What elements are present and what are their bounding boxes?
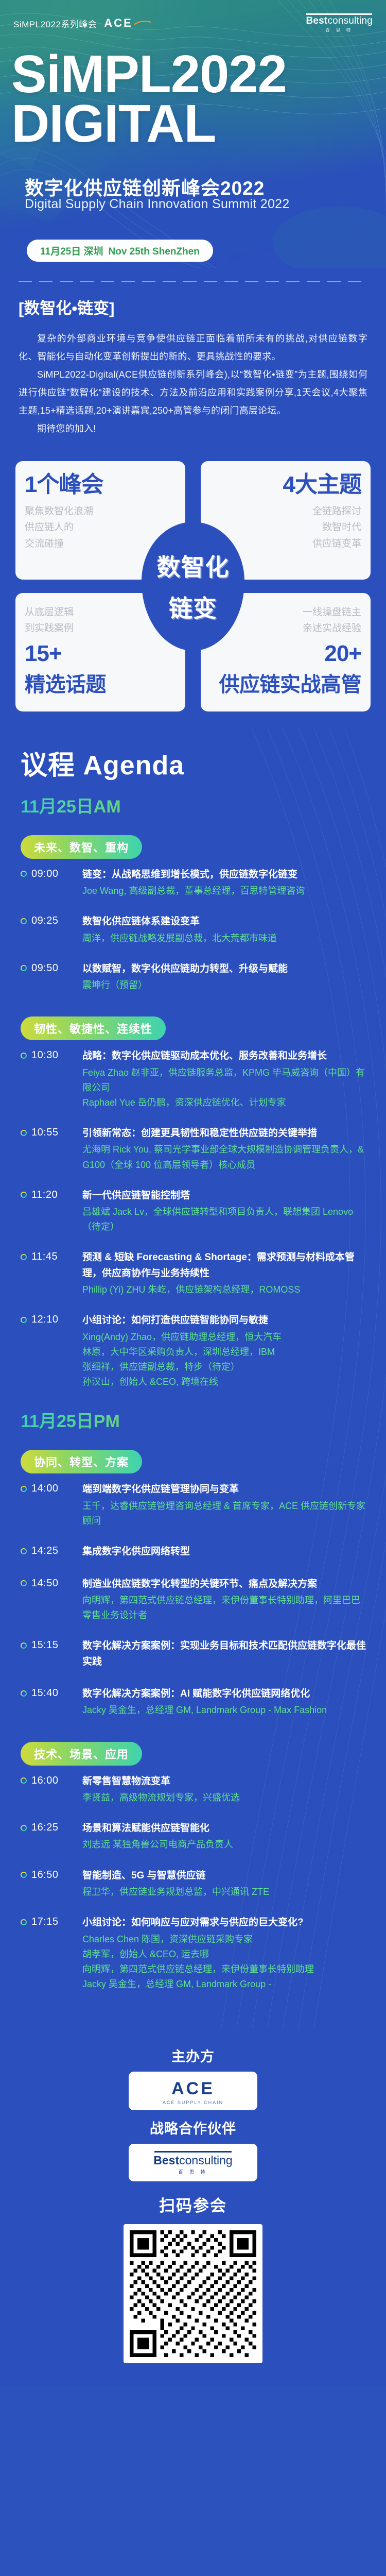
session-time: 15:15 (21, 1638, 82, 1651)
session-title: 小组讨论：如何响应与应对需求与供应的巨大变化? (82, 1915, 369, 1930)
bullet-ring-icon (21, 918, 27, 924)
session-title: 数字化解决方案案例：实现业务目标和技术匹配供应链数字化最佳实践 (82, 1638, 369, 1670)
sponsor-logo-cn: 百 思 特 (306, 27, 373, 33)
session-title: 端到端数字化供应链管理协同与变革 (82, 1482, 369, 1497)
session-title: 小组讨论：如何打造供应链智能协同与敏捷 (82, 1313, 369, 1328)
session-time: 17:15 (21, 1915, 82, 1928)
session-speaker: 李贤益，高级物流规划专家，兴盛优选 (82, 1790, 369, 1805)
agenda-day-am: 11月25日AM 未来、数智、重构 09:00 链变：从战略思维到增长模式，供应… (17, 792, 369, 1390)
highlight-cards-section: 1个峰会 聚焦数智化浪潮 供应链人的 交流碰撞 4大主题 全链路探讨 数智时代 … (0, 449, 386, 729)
bullet-ring-icon (21, 1486, 27, 1492)
card-subtext: 从底层逻辑 到实践案例 (25, 604, 74, 637)
card-headline: 20+ (324, 641, 361, 666)
card-subtext: 全链路探讨 数智时代 供应链变革 (312, 503, 361, 552)
ace-logo-text: ACE (104, 16, 132, 30)
event-date-badge: 11月25日 深圳Nov 25th ShenZhen (27, 240, 213, 262)
track-pill: 协同、转型、方案 (21, 1450, 142, 1473)
session-time-text: 11:20 (31, 1189, 58, 1201)
agenda-session: 15:15 数字化解决方案案例：实现业务目标和技术匹配供应链数字化最佳实践 (21, 1638, 369, 1671)
agenda-session: 10:55 引领新常态：创建更具韧性和稳定性供应链的关键举措 尤海明 Rick … (21, 1126, 369, 1173)
agenda-session: 16:50 智能制造、5G 与智慧供应链 程卫华，供应链业务规划总监，中兴通讯 … (21, 1868, 369, 1900)
bullet-ring-icon (21, 1053, 27, 1059)
agenda-session: 11:20 新一代供应链智能控制塔 吕雄斌 Jack Lv，全球供应链转型和项目… (21, 1188, 369, 1235)
session-speaker: 向明辉，第四范式供应链总经理，来伊份董事长特别助理，阿里巴巴零售业务设计者 (82, 1593, 369, 1623)
session-time: 09:00 (21, 867, 82, 880)
card-headline: 4大主题 (283, 472, 361, 497)
session-time-text: 10:55 (31, 1127, 59, 1139)
card-headline: 15+ (25, 641, 62, 666)
track-pill: 韧性、敏捷性、连续性 (21, 1016, 166, 1040)
session-time: 14:25 (21, 1544, 82, 1557)
session-time-text: 14:50 (31, 1578, 59, 1589)
agenda-day-label: 11月25日PM (21, 1407, 369, 1432)
session-time: 09:50 (21, 961, 82, 974)
hero-topbar: SiMPL2022系列峰会 ACE Bestconsulting 百 思 特 (0, 11, 386, 35)
session-speaker: Joe Wang, 高级副总裁，董事总经理，百思特管理咨询 (82, 884, 369, 899)
session-time: 16:25 (21, 1821, 82, 1834)
session-speaker: Jacky 吴金生，总经理 GM, Landmark Group - Max F… (82, 1703, 369, 1718)
agenda-session: 09:00 链变：从战略思维到增长模式，供应链数字化链变 Joe Wang, 高… (21, 867, 369, 899)
session-time: 09:25 (21, 914, 82, 927)
agenda-session: 15:40 数字化解决方案案例：AI 赋能数字化供应链网络优化 Jacky 吴金… (21, 1686, 369, 1718)
highlight-cards-grid: 1个峰会 聚焦数智化浪潮 供应链人的 交流碰撞 4大主题 全链路探讨 数智时代 … (15, 461, 371, 711)
session-time-text: 14:25 (31, 1545, 59, 1557)
bullet-ring-icon (21, 1919, 27, 1925)
session-time-text: 09:50 (31, 962, 59, 974)
hero-subtitle-cn: 数字化供应链创新峰会2022 (25, 173, 265, 200)
sponsor-logo-text: Bestconsulting (306, 15, 373, 27)
ace-logo-icon: ACE (104, 16, 151, 30)
agenda-track: 韧性、敏捷性、连续性 10:30 战略：数字化供应链驱动成本优化、服务改善和业务… (17, 1008, 369, 1389)
series-brand: SiMPL2022系列峰会 ACE (13, 16, 151, 30)
agenda-day-label: 11月25日AM (21, 792, 369, 818)
session-time: 15:40 (21, 1686, 82, 1699)
session-speaker: 王千，达睿供应链管理咨询总经理 & 首席专家，ACE 供应链创新专家顾问 (82, 1499, 369, 1529)
agenda-session: 16:00 新零售智慧物流变革 李贤益，高级物流规划专家，兴盛优选 (21, 1774, 369, 1806)
session-time: 16:50 (21, 1868, 82, 1881)
session-time-text: 09:00 (31, 868, 59, 880)
session-speaker: Xing(Andy) Zhao，供应链助理总经理，恒大汽车 林原，大中华区采购负… (82, 1330, 369, 1390)
agenda-section: 议程 Agenda 11月25日AM 未来、数智、重构 09:00 链变：从战略… (0, 729, 386, 2028)
agenda-track: 协同、转型、方案 14:00 端到端数字化供应链管理协同与变革 王千，达睿供应链… (17, 1442, 369, 1718)
bullet-ring-icon (21, 871, 27, 877)
agenda-session: 14:25 集成数字化供应网络转型 (21, 1544, 369, 1561)
agenda-title: 议程 Agenda (21, 743, 369, 782)
session-time: 11:45 (21, 1250, 82, 1263)
session-time-text: 15:15 (31, 1639, 59, 1651)
agenda-session: 14:00 端到端数字化供应链管理协同与变革 王千，达睿供应链管理咨询总经理 &… (21, 1482, 369, 1529)
session-time-text: 16:50 (31, 1869, 59, 1881)
intro-section: [数智化•链变] 复杂的外部商业环境与竞争使供应链正面临着前所未有的挑战,对供应… (0, 268, 386, 449)
bullet-ring-icon (21, 1872, 27, 1878)
track-pill: 未来、数智、重构 (21, 835, 142, 859)
bullet-ring-icon (21, 965, 27, 971)
sponsor-logo: Bestconsulting 百 思 特 (306, 13, 373, 33)
partner-logo-text: Bestconsulting (129, 2154, 257, 2167)
session-title: 制造业供应链数字化转型的关键环节、痛点及解决方案 (82, 1577, 369, 1592)
badge-stem (189, 647, 197, 664)
organizer-label: 主办方 (17, 2045, 369, 2065)
session-title: 智能制造、5G 与智慧供应链 (82, 1868, 369, 1884)
card-headline: 1个峰会 (25, 472, 103, 497)
agenda-session: 10:30 战略：数字化供应链驱动成本优化、服务改善和业务增长 Feiya Zh… (21, 1048, 369, 1110)
session-time: 16:00 (21, 1774, 82, 1787)
card-subtext: 聚焦数智化浪潮 供应链人的 交流碰撞 (25, 503, 93, 552)
bullet-ring-icon (21, 1642, 27, 1649)
session-time: 11:20 (21, 1188, 82, 1201)
session-speaker: 尤海明 Rick You, 蔡司光学事业部全球大规模制造协调管理负责人，& G1… (82, 1142, 369, 1172)
session-title: 以数赋智，数字化供应链助力转型、升级与赋能 (82, 961, 369, 977)
agenda-track: 技术、场景、应用 16:00 新零售智慧物流变革 李贤益，高级物流规划专家，兴盛… (17, 1734, 369, 1992)
series-label: SiMPL2022系列峰会 (13, 17, 97, 30)
intro-paragraph-3: 期待您的加入! (19, 420, 367, 438)
partner-label: 战略合作伙伴 (17, 2117, 369, 2138)
session-speaker: 吕雄斌 Jack Lv，全球供应链转型和项目负责人，联想集团 Lenovo（待定… (82, 1205, 369, 1234)
session-title: 新零售智慧物流变革 (82, 1774, 369, 1789)
session-title: 链变：从战略思维到增长模式，供应链数字化链变 (82, 867, 369, 883)
session-time-text: 11:45 (31, 1251, 58, 1263)
bullet-ring-icon (21, 1690, 27, 1697)
agenda-session: 16:25 场景和算法赋能供应链智能化 刘志远 某独角兽公司电商产品负责人 (21, 1821, 369, 1853)
hero-banner: SiMPL2022系列峰会 ACE Bestconsulting 百 思 特 S… (0, 0, 386, 268)
partner-logo-cn: 百 思 特 (129, 2168, 257, 2175)
session-time: 12:10 (21, 1313, 82, 1326)
session-time-text: 10:30 (31, 1049, 59, 1061)
organizer-logo: ACE ACE SUPPLY CHAIN (129, 2072, 257, 2110)
hero-subtitle-en: Digital Supply Chain Innovation Summit 2… (25, 197, 290, 212)
bullet-ring-icon (21, 1317, 27, 1323)
qr-title: 扫码参会 (17, 2193, 369, 2216)
card-subtext: 一线操盘链主 亲述实战经验 (303, 604, 361, 637)
agenda-track: 未来、数智、重构 09:00 链变：从战略思维到增长模式，供应链数字化链变 Jo… (17, 827, 369, 993)
organizer-logo-text: ACE (129, 2079, 257, 2099)
center-badge-line1: 数智化 (157, 549, 230, 583)
track-pill: 技术、场景、应用 (21, 1742, 142, 1766)
agenda-session: 09:50 以数赋智，数字化供应链助力转型、升级与赋能 震坤行（预留） (21, 961, 369, 993)
bullet-ring-icon (21, 1192, 27, 1198)
session-title: 场景和算法赋能供应链智能化 (82, 1821, 369, 1836)
session-speaker: 震坤行（预留） (82, 978, 369, 993)
logo-rule (306, 13, 372, 15)
agenda-day-pm: 11月25日PM 协同、转型、方案 14:00 端到端数字化供应链管理协同与变革… (17, 1407, 369, 1992)
agenda-session: 11:45 预测 & 短缺 Forecasting & Shortage：需求预… (21, 1250, 369, 1297)
session-time-text: 12:10 (31, 1314, 59, 1326)
theme-tag: [数智化•链变] (19, 295, 367, 318)
session-time-text: 17:15 (31, 1916, 59, 1928)
session-speaker: Phillip (Yi) ZHU 朱屹，供应链架构总经理，ROMOSS (82, 1282, 369, 1297)
session-speaker: Feiya Zhao 赵非亚，供应链服务总监，KPMG 毕马威咨询（中国）有限公… (82, 1065, 369, 1110)
session-title: 战略：数字化供应链驱动成本优化、服务改善和业务增长 (82, 1048, 369, 1064)
card-headline-2: 精选话题 (25, 673, 106, 697)
page-title: SiMPL2022 DIGITAL (11, 49, 386, 148)
bullet-ring-icon (21, 1580, 27, 1586)
organizer-logo-caption: ACE SUPPLY CHAIN (129, 2100, 257, 2105)
session-time-text: 16:00 (31, 1775, 59, 1787)
agenda-session: 12:10 小组讨论：如何打造供应链智能协同与敏捷 Xing(Andy) Zha… (21, 1313, 369, 1389)
session-speaker: Charles Chen 陈国，资深供应链采购专家 胡孝军，创始人 &CEO, … (82, 1932, 369, 1992)
session-speaker: 程卫华，供应链业务规划总监，中兴通讯 ZTE (82, 1885, 369, 1900)
session-time: 14:50 (21, 1577, 82, 1589)
session-time: 10:30 (21, 1048, 82, 1061)
session-time-text: 14:00 (31, 1483, 59, 1495)
session-time-text: 16:25 (31, 1822, 59, 1834)
agenda-session: 09:25 数智化供应链体系建设变革 周洋，供应链战略发展副总裁，北大荒都市味道 (21, 914, 369, 946)
hero-title-line2: DIGITAL (11, 99, 386, 148)
intro-paragraph-2: SiMPL2022-Digital(ACE供应链创新系列峰会),以“数智化•链变… (19, 366, 367, 420)
session-speaker: 周洋，供应链战略发展副总裁，北大荒都市味道 (82, 931, 369, 946)
session-time-text: 15:40 (31, 1687, 59, 1699)
footer-section: 主办方 ACE ACE SUPPLY CHAIN 战略合作伙伴 Bestcons… (0, 2028, 386, 2387)
session-speaker: 刘志远 某独角兽公司电商产品负责人 (82, 1837, 369, 1852)
swoosh-icon (134, 21, 151, 26)
bullet-ring-icon (21, 1130, 27, 1136)
bullet-ring-icon (21, 1254, 27, 1260)
bullet-ring-icon (21, 1825, 27, 1831)
center-badge-line2: 链变 (169, 590, 217, 624)
bullet-ring-icon (21, 1777, 27, 1784)
partner-logo-rule (154, 2151, 232, 2153)
session-time: 10:55 (21, 1126, 82, 1139)
qr-code[interactable] (124, 2224, 262, 2363)
session-title: 引领新常态：创建更具韧性和稳定性供应链的关键举措 (82, 1126, 369, 1141)
session-title: 数字化解决方案案例：AI 赋能数字化供应链网络优化 (82, 1686, 369, 1702)
session-time: 14:00 (21, 1482, 82, 1495)
event-date-en: Nov 25th ShenZhen (109, 246, 200, 257)
session-title: 预测 & 短缺 Forecasting & Shortage：需求预测与材料成本… (82, 1250, 369, 1281)
session-title: 新一代供应链智能控制塔 (82, 1188, 369, 1204)
bullet-ring-icon (21, 1548, 27, 1554)
card-headline-2: 供应链实战高管 (219, 673, 362, 697)
poster-page: SiMPL2022系列峰会 ACE Bestconsulting 百 思 特 S… (0, 0, 386, 2387)
qr-code-image (130, 2230, 256, 2357)
agenda-session: 14:50 制造业供应链数字化转型的关键环节、痛点及解决方案 向明辉，第四范式供… (21, 1577, 369, 1623)
partner-logo: Bestconsulting 百 思 特 (129, 2144, 257, 2181)
agenda-session: 17:15 小组讨论：如何响应与应对需求与供应的巨大变化? Charles Ch… (21, 1915, 369, 1992)
event-date-cn: 11月25日 深圳 (40, 246, 103, 257)
intro-paragraph-1: 复杂的外部商业环境与竞争使供应链正面临着前所未有的挑战,对供应链数字化、智能化与… (19, 330, 367, 366)
session-title: 数智化供应链体系建设变革 (82, 914, 369, 929)
session-time-text: 09:25 (31, 915, 59, 927)
divider-dashed (19, 281, 367, 282)
session-title: 集成数字化供应网络转型 (82, 1544, 369, 1560)
